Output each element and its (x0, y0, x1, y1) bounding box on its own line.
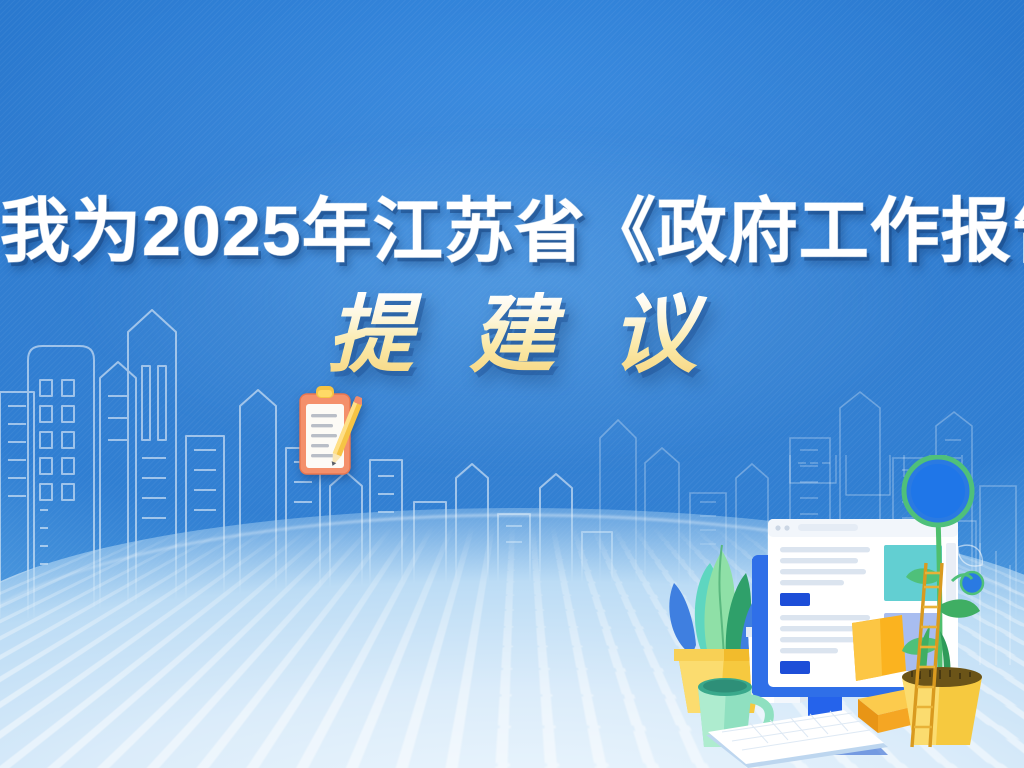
desk-workspace-illustration (640, 455, 1024, 768)
poster-heading: 我为2025年江苏省《政府工作报告》 提 建 议 (0, 196, 1024, 398)
page-subtitle: 提 建 议 (0, 292, 1024, 378)
screen-button-secondary (780, 661, 810, 674)
clipboard-pencil-icon (296, 384, 362, 480)
poster-canvas: 我为2025年江苏省《政府工作报告》 提 建 议 (0, 0, 1024, 768)
screen-button-primary (780, 593, 810, 606)
page-title: 我为2025年江苏省《政府工作报告》 (0, 196, 1024, 266)
subtitle-wrap: 提 建 议 (0, 288, 1024, 398)
